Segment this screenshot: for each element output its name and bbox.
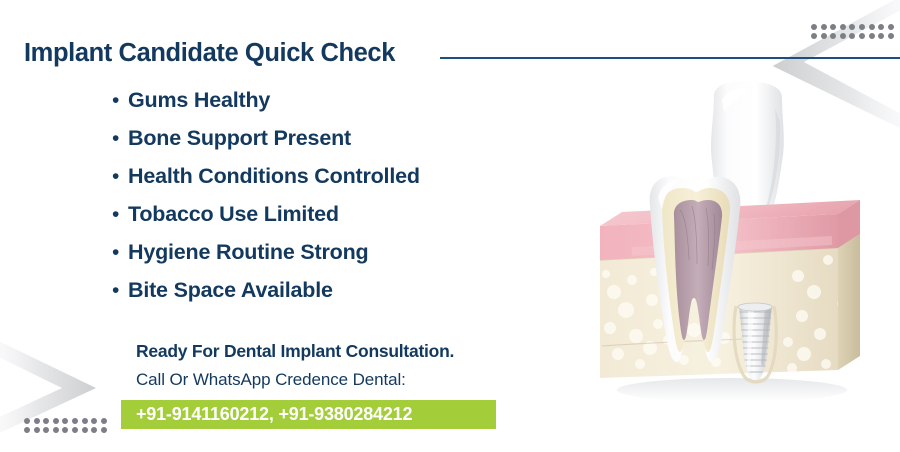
bullet-icon: • [112,166,128,187]
cta-block: Ready For Dental Implant Consultation. C… [136,340,454,392]
list-item-label: Bite Space Available [128,278,333,303]
bullet-icon: • [112,242,128,263]
list-item-label: Bone Support Present [128,126,351,151]
list-item-label: Health Conditions Controlled [128,164,420,189]
list-item-label: Gums Healthy [128,88,270,113]
list-item: • Gums Healthy [112,88,612,126]
bullet-icon: • [112,90,128,111]
list-item: • Tobacco Use Limited [112,202,612,240]
bullet-icon: • [112,128,128,149]
cta-headline: Ready For Dental Implant Consultation. [136,340,454,364]
cta-subline: Call Or WhatsApp Credence Dental: [136,368,454,393]
list-item: • Health Conditions Controlled [112,164,612,202]
bullet-icon: • [112,280,128,301]
poster-canvas: Implant Candidate Quick Check • Gums Hea… [0,0,900,452]
dot-grid-top-right [811,24,894,39]
dental-implant-cross-section [592,78,892,408]
list-item: • Bite Space Available [112,278,612,316]
list-item: • Hygiene Routine Strong [112,240,612,278]
list-item: • Bone Support Present [112,126,612,164]
bullet-icon: • [112,204,128,225]
title-divider [440,57,900,59]
list-item-label: Hygiene Routine Strong [128,240,368,265]
phone-numbers[interactable]: +91-9141160212, +91-9380284212 [136,403,412,426]
page-title: Implant Candidate Quick Check [24,39,395,68]
dot-grid-bottom-left [24,418,107,433]
list-item-label: Tobacco Use Limited [128,202,339,227]
checklist: • Gums Healthy • Bone Support Present • … [112,88,612,316]
